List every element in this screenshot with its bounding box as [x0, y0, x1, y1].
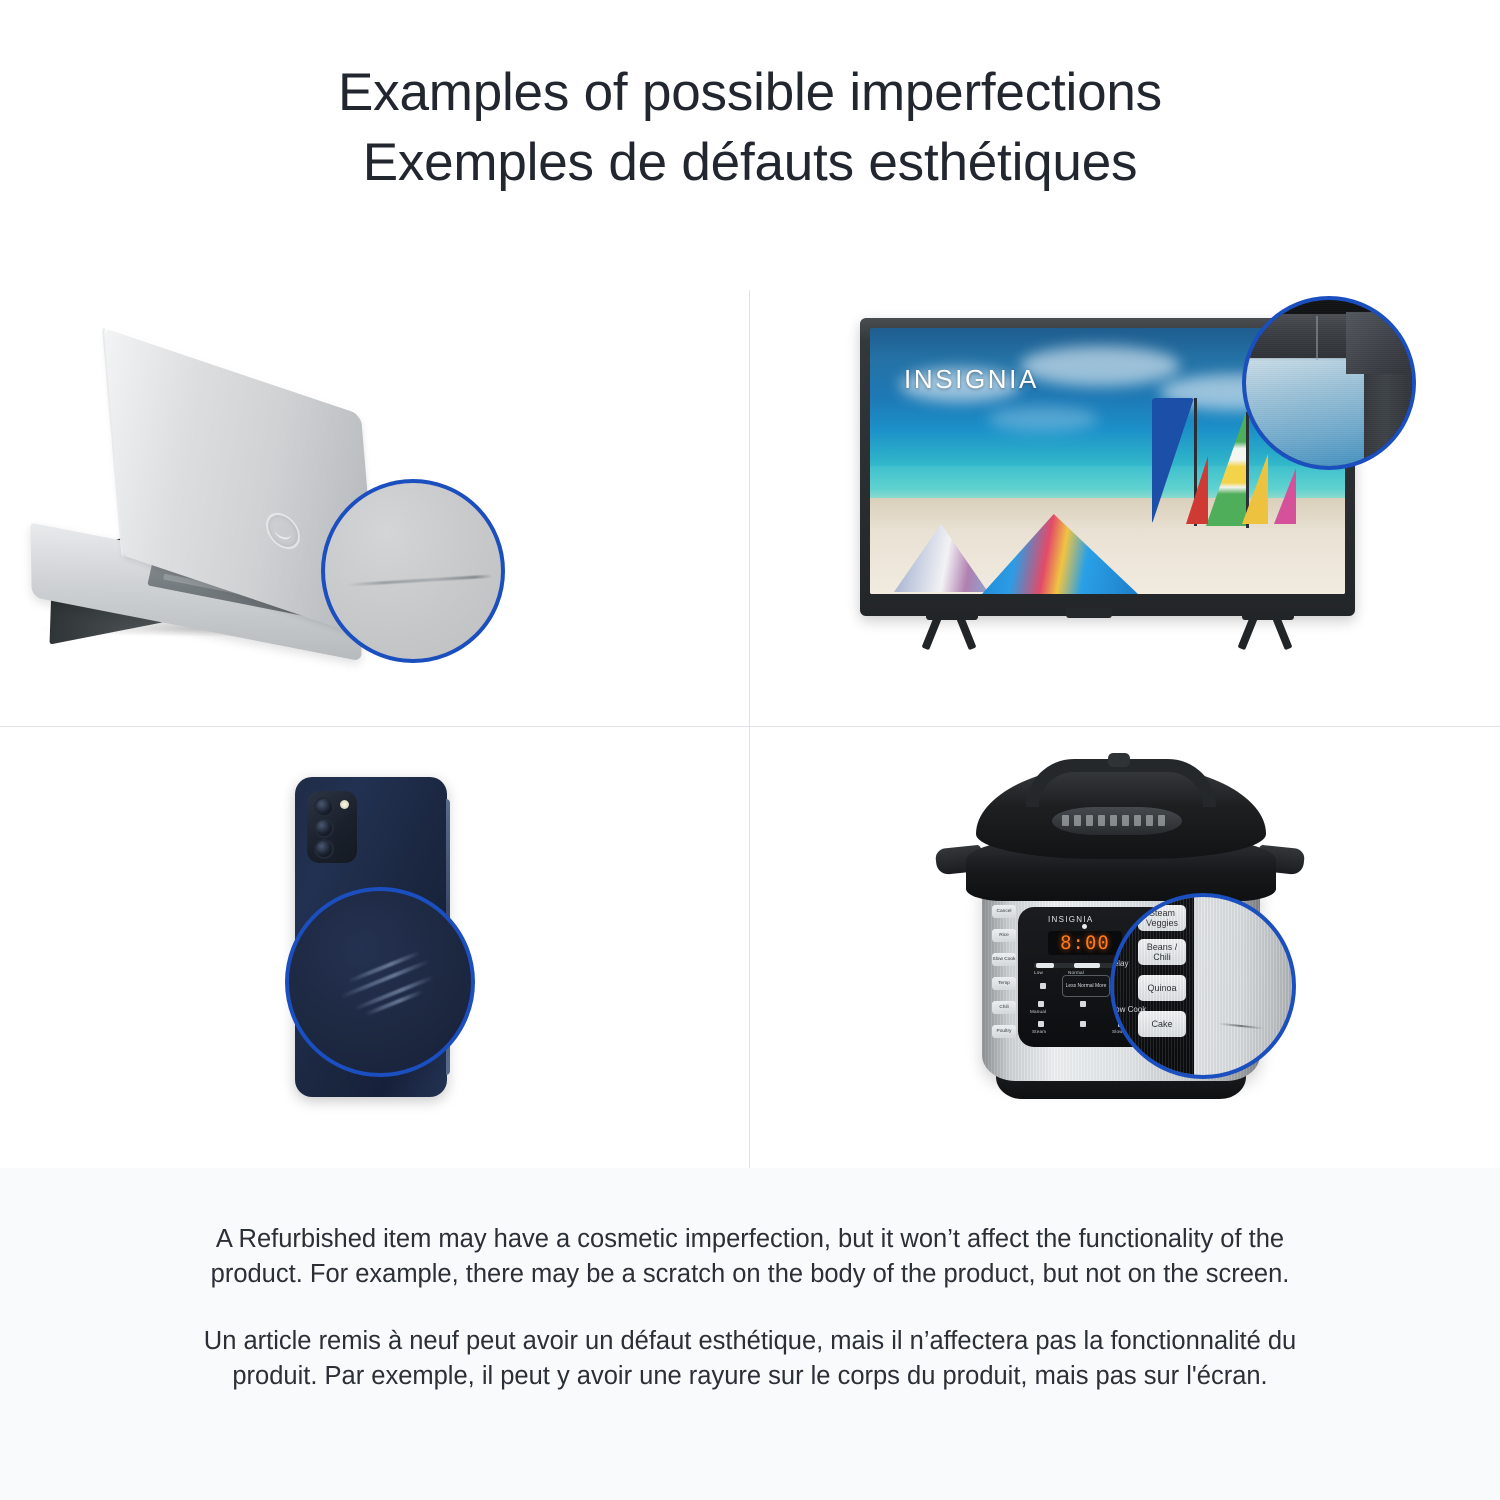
magnifier-phone-scratches — [285, 887, 475, 1077]
title-line-french: Exemples de défauts esthétiques — [0, 128, 1500, 198]
camera-lens-icon — [314, 818, 334, 838]
cooker-display: 8:00 — [1048, 931, 1122, 955]
tv-brand-logo: INSIGNIA — [904, 364, 1039, 395]
camera-module-icon — [307, 791, 357, 863]
cooker-button-temp[interactable]: Temp — [992, 977, 1016, 990]
cooker-label-manual: Manual — [1030, 1009, 1046, 1014]
tv-foot-right — [1228, 614, 1306, 648]
tv-stand-bar — [1066, 608, 1112, 618]
cooker-left-button-column: Cancel Rice Slow Cook Temp Chili Poultry — [992, 905, 1018, 1047]
magnifier-laptop-scratch — [321, 479, 505, 663]
camera-lens-icon — [314, 797, 334, 817]
phone-illustration — [255, 777, 495, 1117]
panel-smartphone — [0, 727, 749, 1168]
cooker-lid-panel — [1052, 807, 1182, 835]
description-english: A Refurbished item may have a cosmetic i… — [185, 1168, 1315, 1292]
laptop-illustration — [25, 375, 445, 665]
bar-label-low: Low — [1034, 970, 1043, 975]
cloud-shape — [988, 406, 1098, 432]
cooker-illustration: INSIGNIA 8:00 Low Normal More Less Norma… — [940, 755, 1320, 1125]
cooker-button-cancel[interactable]: Cancel — [992, 905, 1016, 918]
cooker-steam-valve-icon — [1108, 753, 1130, 767]
cooker-button-poultry[interactable]: Poultry — [992, 1025, 1016, 1038]
camera-flash-icon — [340, 800, 349, 809]
panel-pressure-cooker: INSIGNIA 8:00 Low Normal More Less Norma… — [750, 727, 1500, 1168]
cooker-button-steam[interactable] — [1038, 1021, 1044, 1027]
cooker-button-preset[interactable] — [1080, 1001, 1086, 1007]
tv-foot-left — [912, 614, 990, 648]
panel-television: INSIGNIA — [750, 290, 1500, 726]
magnifier-cooker-scratch: Delay Slow Cook Steam Veggies Beans / Ch… — [1110, 893, 1296, 1079]
scratch-mark — [347, 575, 493, 587]
title-line-english: Examples of possible imperfections — [0, 58, 1500, 128]
cloud-shape — [1020, 346, 1180, 386]
magnifier-tv-bezel-scuff — [1242, 296, 1416, 470]
cooker-label-steam: Steam — [1032, 1029, 1046, 1034]
cooker-button-manual[interactable] — [1038, 1001, 1044, 1007]
cooker-center-button[interactable]: Less Normal More — [1062, 975, 1110, 997]
tv-illustration: INSIGNIA — [860, 318, 1370, 678]
camera-lens-icon — [314, 839, 334, 859]
sailboat-magenta — [1274, 468, 1300, 526]
beach-tent-left — [894, 524, 990, 594]
refurbished-imperfections-infographic: Examples of possible imperfections Exemp… — [0, 0, 1500, 1500]
description-french: Un article remis à neuf peut avoir un dé… — [185, 1292, 1315, 1394]
zoom-brushed-texture — [1114, 897, 1292, 1075]
beach-tent-center — [982, 514, 1142, 594]
page-title: Examples of possible imperfections Exemp… — [0, 58, 1500, 198]
cooker-button-slow-cook[interactable]: Slow Cook — [992, 953, 1016, 966]
sailboat-red — [1186, 456, 1212, 526]
cooker-minus-button[interactable] — [1040, 983, 1046, 989]
cooker-brand-logo: INSIGNIA — [1048, 915, 1094, 924]
image-grid: INSIGNIA — [0, 290, 1500, 1168]
panel-laptop — [0, 290, 749, 726]
cooker-button-rice[interactable]: Rice — [992, 929, 1016, 942]
indicator-led — [1082, 924, 1087, 929]
cooker-button-flowchart[interactable] — [1080, 1021, 1086, 1027]
description-section: A Refurbished item may have a cosmetic i… — [0, 1168, 1500, 1500]
zoom-texture — [1246, 300, 1412, 466]
cooker-button-chili[interactable]: Chili — [992, 1001, 1016, 1014]
